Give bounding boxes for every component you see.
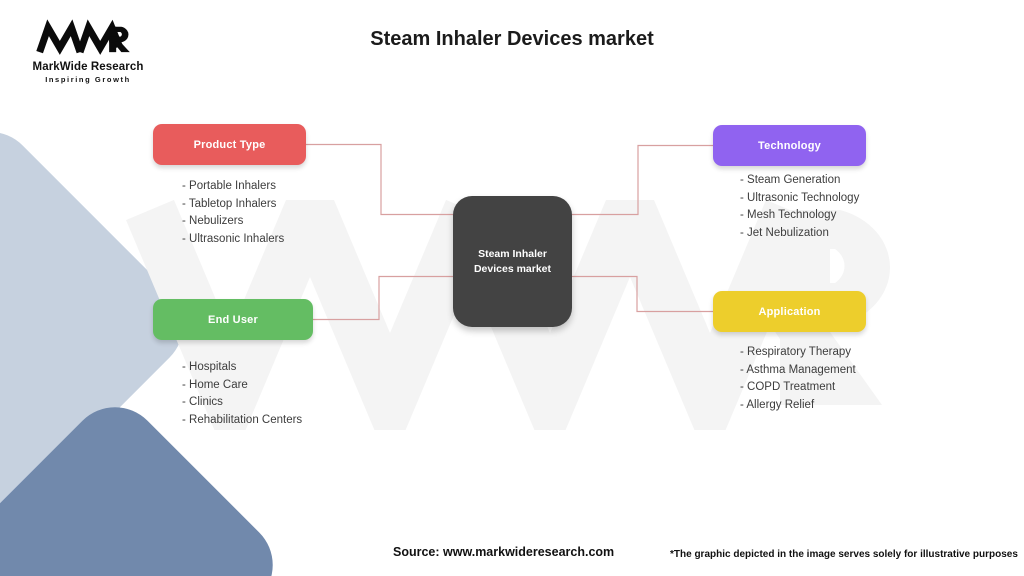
branch-list-product-type: - Portable Inhalers - Tabletop Inhalers …	[182, 178, 284, 248]
connector-application	[572, 277, 713, 312]
footer-source: Source: www.markwideresearch.com	[393, 545, 614, 559]
branch-label-end-user: End User	[208, 314, 258, 326]
connector-technology	[572, 146, 713, 215]
center-node-line2: Devices market	[474, 262, 551, 277]
list-item: - Allergy Relief	[740, 397, 856, 415]
connector-product-type	[306, 145, 453, 215]
list-item: - Portable Inhalers	[182, 178, 284, 196]
list-item: - Ultrasonic Inhalers	[182, 231, 284, 249]
list-item: - Jet Nebulization	[740, 225, 859, 243]
branch-label-product-type: Product Type	[194, 139, 266, 151]
branch-box-technology[interactable]: Technology	[713, 125, 866, 166]
branch-box-product-type[interactable]: Product Type	[153, 124, 306, 165]
list-item: - Home Care	[182, 377, 302, 395]
branch-box-application[interactable]: Application	[713, 291, 866, 332]
list-item: - Asthma Management	[740, 362, 856, 380]
list-item: - Ultrasonic Technology	[740, 190, 859, 208]
branch-list-end-user: - Hospitals - Home Care - Clinics - Reha…	[182, 359, 302, 429]
list-item: - Steam Generation	[740, 172, 859, 190]
footer-disclaimer: *The graphic depicted in the image serve…	[670, 549, 1018, 560]
center-node-line1: Steam Inhaler	[474, 247, 551, 262]
list-item: - Clinics	[182, 394, 302, 412]
list-item: - Hospitals	[182, 359, 302, 377]
branch-label-technology: Technology	[758, 140, 821, 152]
branch-list-application: - Respiratory Therapy - Asthma Managemen…	[740, 344, 856, 414]
list-item: - Rehabilitation Centers	[182, 412, 302, 430]
list-item: - Nebulizers	[182, 213, 284, 231]
list-item: - Tabletop Inhalers	[182, 196, 284, 214]
branch-label-application: Application	[758, 306, 820, 318]
diagram-canvas: MarkWide Research Inspiring Growth Steam…	[0, 0, 1024, 576]
list-item: - Respiratory Therapy	[740, 344, 856, 362]
connector-end-user	[313, 277, 453, 320]
branch-list-technology: - Steam Generation - Ultrasonic Technolo…	[740, 172, 859, 242]
list-item: - COPD Treatment	[740, 379, 856, 397]
branch-box-end-user[interactable]: End User	[153, 299, 313, 340]
center-node[interactable]: Steam Inhaler Devices market	[453, 196, 572, 327]
list-item: - Mesh Technology	[740, 207, 859, 225]
